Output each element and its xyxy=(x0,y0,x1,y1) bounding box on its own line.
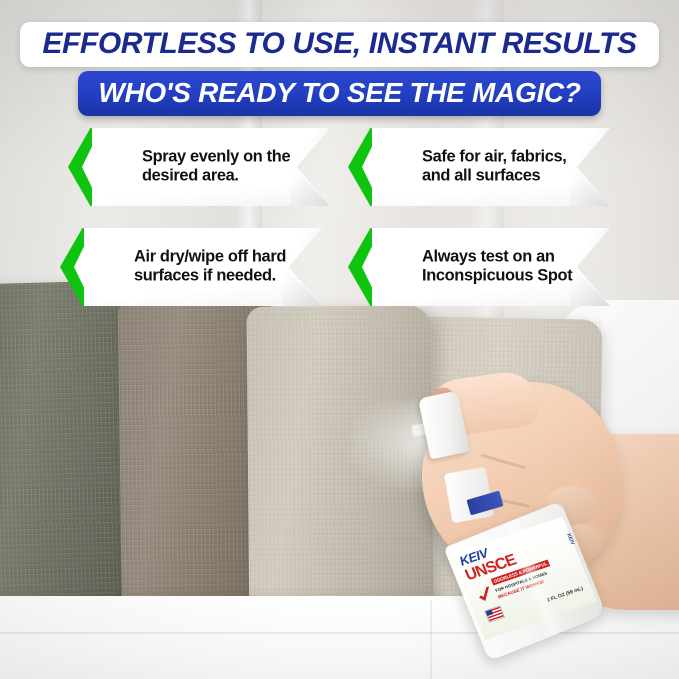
usa-flag-icon xyxy=(484,605,505,623)
seat-seam xyxy=(0,632,679,634)
callout-grid: Spray evenly on the desired area. Safe f… xyxy=(0,126,679,326)
callout-text: Always test on an Inconspicuous Spot xyxy=(422,247,590,284)
callout-text: Spray evenly on the desired area. xyxy=(142,147,310,184)
headline-secondary-wrap: WHO'S READY TO SEE THE MAGIC? xyxy=(0,71,679,116)
finger-crease xyxy=(480,454,525,470)
label-side-brand: KEIV xyxy=(566,533,576,546)
headline-line-1: EFFORTLESS TO USE, INSTANT RESULTS xyxy=(42,29,636,59)
callout-row-2: Air dry/wipe off hard surfaces if needed… xyxy=(0,226,679,326)
callout-safe-for-all: Safe for air, fabrics, and all surfaces xyxy=(348,126,610,206)
headline-secondary: WHO'S READY TO SEE THE MAGIC? xyxy=(78,71,600,116)
callout-air-dry: Air dry/wipe off hard surfaces if needed… xyxy=(60,226,322,306)
headline-line-2: WHO'S READY TO SEE THE MAGIC? xyxy=(98,79,580,107)
product-infographic: KEIV UNSCE ODORLESS & POWERFUL FOR HOSPI… xyxy=(0,0,679,679)
headline-block: EFFORTLESS TO USE, INSTANT RESULTS WHO'S… xyxy=(0,22,679,116)
headline-primary: EFFORTLESS TO USE, INSTANT RESULTS xyxy=(20,22,658,67)
callout-text: Air dry/wipe off hard surfaces if needed… xyxy=(134,247,302,284)
callout-text: Safe for air, fabrics, and all surfaces xyxy=(422,147,590,184)
checkmark-icon xyxy=(473,583,497,606)
callout-spray-evenly: Spray evenly on the desired area. xyxy=(68,126,330,206)
callout-row-1: Spray evenly on the desired area. Safe f… xyxy=(0,126,679,226)
callout-test-spot: Always test on an Inconspicuous Spot xyxy=(348,226,610,306)
